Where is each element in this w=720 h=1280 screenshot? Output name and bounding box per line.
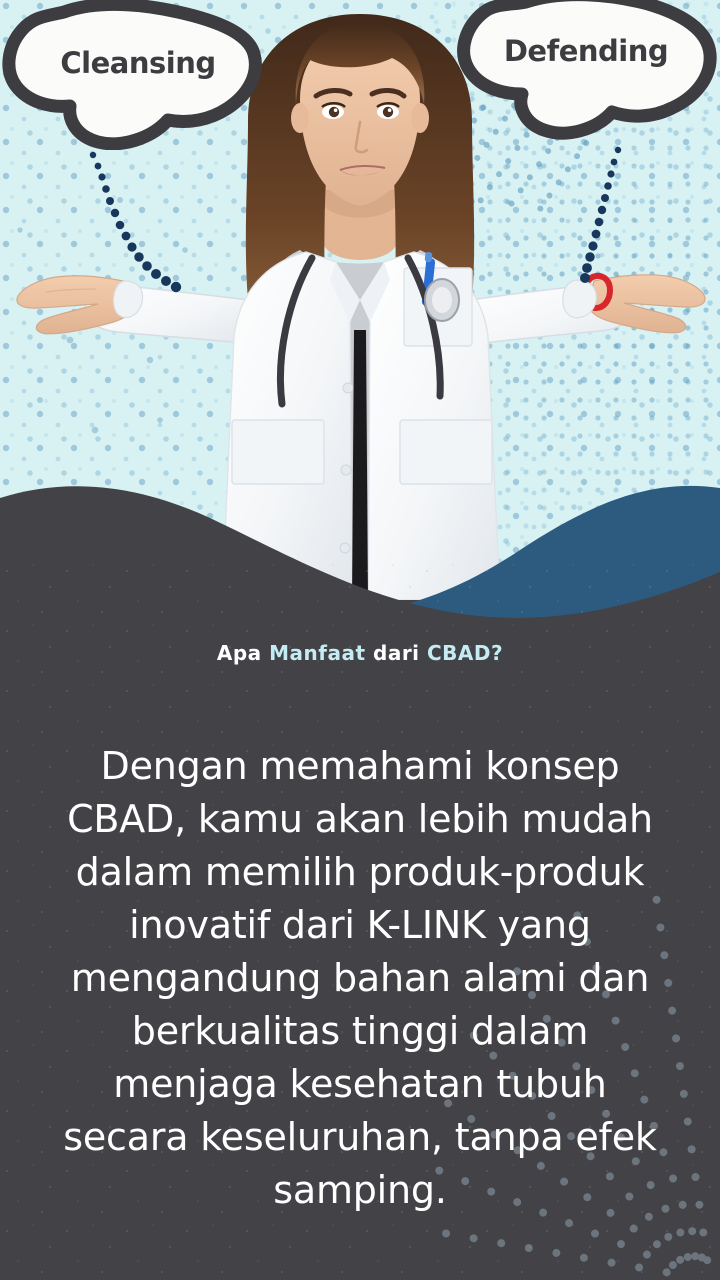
content-section: Apa Manfaat dari CBAD? Dengan memahami k…: [0, 560, 720, 1280]
stethoscope-chestpiece: [425, 279, 459, 321]
body-line: samping.: [26, 1164, 694, 1217]
body-line: berkualitas tinggi dalam: [26, 1005, 694, 1058]
headline-word-2: Manfaat: [269, 641, 365, 665]
bubble-shape-defending: [452, 0, 720, 142]
body-line: Dengan memahami konsep: [26, 740, 694, 793]
poster-canvas: Cleansing Defending: [0, 0, 720, 1280]
body-line: menjaga kesehatan tubuh: [26, 1058, 694, 1111]
headline-word-1: Apa: [217, 641, 262, 665]
bubble-label-defending: Defending: [452, 34, 720, 68]
body-line: dalam memilih produk-produk: [26, 846, 694, 899]
body-line: CBAD, kamu akan lebih mudah: [26, 793, 694, 846]
coat-button: [343, 383, 353, 393]
body-line: secara keseluruhan, tanpa efek: [26, 1111, 694, 1164]
speech-bubble-cleansing[interactable]: Cleansing: [2, 0, 274, 150]
body-line: inovatif dari K-LINK yang: [26, 899, 694, 952]
headline-word-4: CBAD?: [427, 641, 503, 665]
body-line: mengandung bahan alami dan: [26, 952, 694, 1005]
speech-bubble-defending[interactable]: Defending: [452, 0, 720, 142]
body-paragraph: Dengan memahami konsep CBAD, kamu akan l…: [26, 740, 694, 1217]
headline-word-3: dari: [373, 641, 420, 665]
left-arm: [17, 276, 252, 344]
right-arm: [470, 275, 705, 344]
bubble-label-cleansing: Cleansing: [2, 46, 274, 80]
page-title: Apa Manfaat dari CBAD?: [0, 642, 720, 664]
